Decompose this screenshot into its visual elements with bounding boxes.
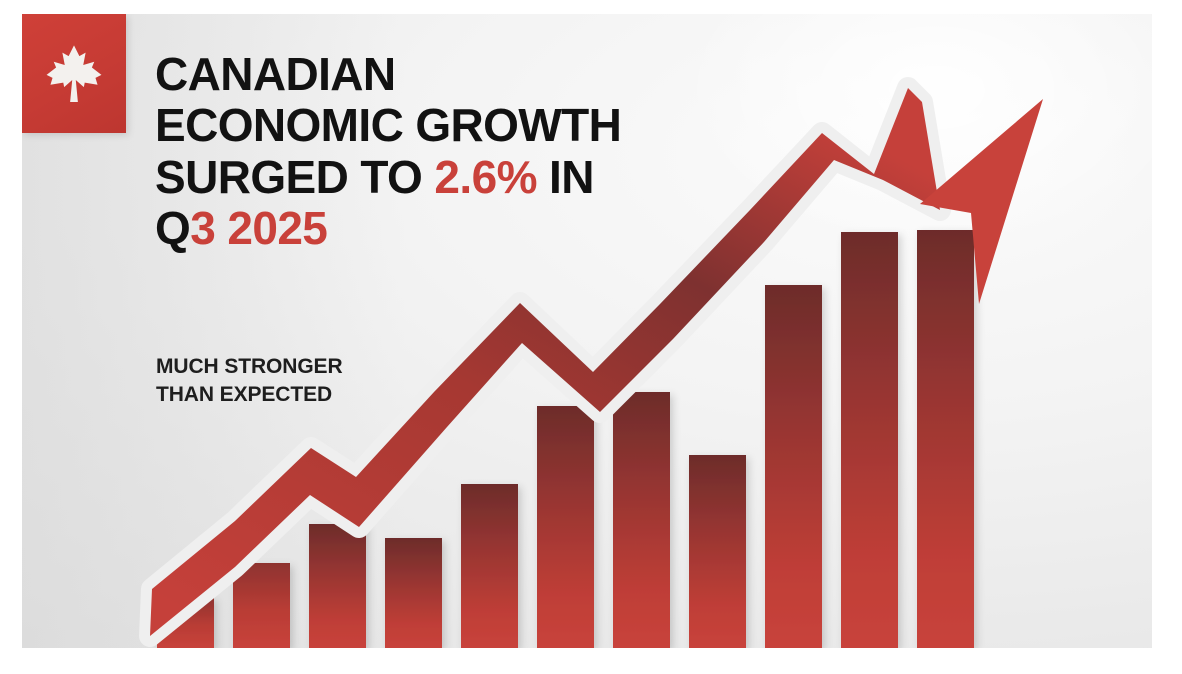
infographic-canvas: CANADIAN ECONOMIC GROWTH SURGED TO 2.6% … [22, 14, 1152, 648]
bar-2 [233, 563, 290, 648]
maple-leaf-icon [44, 43, 104, 105]
bar-9 [765, 285, 822, 648]
bar-10 [841, 232, 898, 648]
bar-group [157, 230, 974, 648]
bar-1 [157, 597, 214, 648]
infographic-stage: CANADIAN ECONOMIC GROWTH SURGED TO 2.6% … [0, 0, 1182, 674]
growth-rate-value: 2.6% [434, 151, 536, 203]
bar-3 [309, 524, 366, 648]
headline-line-1-text: CANADIAN [155, 48, 396, 100]
trend-arrowhead [920, 99, 1043, 304]
headline-line-3-suffix: IN [537, 151, 594, 203]
bar-11 [917, 230, 974, 648]
headline-line-2-text: ECONOMIC GROWTH [155, 99, 621, 151]
subtitle-line-2: THAN EXPECTED [156, 381, 486, 409]
page-title: CANADIAN ECONOMIC GROWTH SURGED TO 2.6% … [155, 49, 795, 254]
canada-flag-badge [22, 14, 126, 133]
bar-7 [613, 392, 670, 648]
bar-6 [537, 406, 594, 648]
period-value: 3 2025 [190, 202, 327, 254]
headline-line-3: SURGED TO 2.6% IN [155, 152, 795, 203]
bar-4 [385, 538, 442, 648]
headline-line-3-prefix: SURGED TO [155, 151, 434, 203]
headline-line-1: CANADIAN [155, 49, 795, 100]
subtitle-line-1: MUCH STRONGER [156, 353, 486, 381]
headline-line-4: Q3 2025 [155, 203, 795, 254]
page-subtitle: MUCH STRONGER THAN EXPECTED [156, 353, 486, 409]
bar-8 [689, 455, 746, 648]
headline-line-2: ECONOMIC GROWTH [155, 100, 795, 151]
headline-line-4-prefix: Q [155, 202, 190, 254]
bar-5 [461, 484, 518, 648]
